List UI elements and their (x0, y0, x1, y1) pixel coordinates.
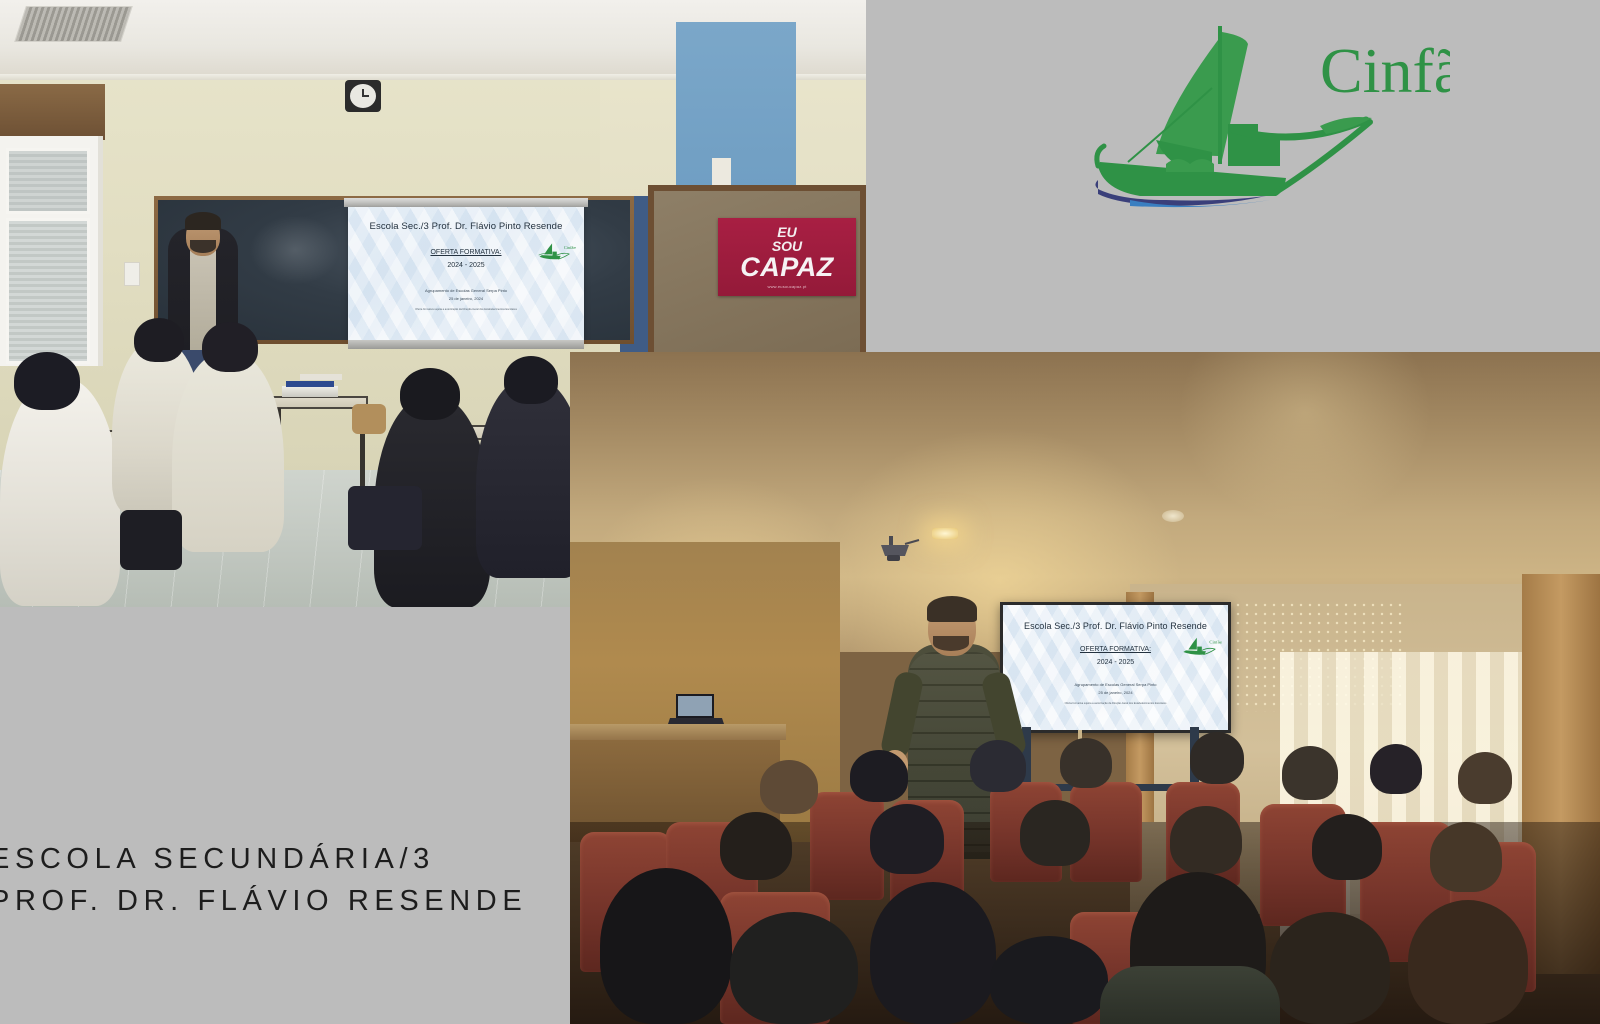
student-head (1458, 752, 1512, 804)
student-head (504, 356, 558, 404)
slide-subtitle: OFERTA FORMATIVA: (358, 249, 574, 256)
logo-wordmark: Cinfães (1320, 35, 1450, 106)
backpack (120, 510, 182, 570)
student-head (1270, 912, 1390, 1024)
student-head (760, 760, 818, 814)
chalkboard-smudge-2 (250, 215, 340, 285)
eu-sou-capaz-poster: EU SOU CAPAZ www.eusoucapaz.pt (718, 218, 856, 296)
student-head (1430, 822, 1502, 892)
presenter-hair (185, 212, 221, 230)
projector-screen-bottom-bar (348, 340, 584, 349)
ceiling-vent (14, 6, 133, 42)
student-head (730, 912, 858, 1024)
student-head (1370, 744, 1422, 794)
presentation-screen: Escola Sec./3 Prof. Dr. Flávio Pinto Res… (1000, 602, 1231, 733)
notebook-stack (282, 386, 338, 397)
ceiling-fixture (1162, 510, 1184, 522)
blue-book (286, 381, 334, 387)
student-head (1408, 900, 1528, 1024)
slide-title: Escola Sec./3 Prof. Dr. Flávio Pinto Res… (1015, 621, 1216, 631)
student-head (850, 750, 908, 802)
recessed-spotlight (932, 528, 958, 539)
window-pane-upper (6, 148, 90, 214)
student-head (134, 318, 184, 362)
projector-screen-rail (344, 198, 588, 207)
student-head (870, 882, 996, 1024)
ceiling-projector-icon (875, 534, 921, 564)
page-title: ESCOLA SECUNDÁRIA/3 PROF. DR. FLÁVIO RES… (0, 838, 630, 922)
projector-screen: Escola Sec./3 Prof. Dr. Flávio Pinto Res… (348, 207, 584, 340)
auditorium-presenter-hair (927, 596, 977, 622)
student-head (1190, 732, 1244, 784)
student-head (400, 368, 460, 420)
student (172, 352, 284, 552)
presenter-beard (190, 240, 216, 253)
student-head (1282, 746, 1338, 800)
poster-line-3: CAPAZ (740, 254, 834, 281)
student-head (1020, 800, 1090, 866)
chair-back (352, 404, 386, 434)
wall-clock (345, 80, 381, 112)
slide-years: 2024 - 2025 (358, 262, 574, 269)
student-head (202, 322, 258, 372)
student-head (990, 936, 1108, 1024)
slide-footer-2: 25 de janeiro, 2024 (358, 296, 574, 301)
backpack (348, 486, 422, 550)
student (0, 378, 120, 606)
slide-title: Escola Sec./3 Prof. Dr. Flávio Pinto Res… (358, 221, 574, 232)
slide-subtitle: OFERTA FORMATIVA: (1015, 646, 1216, 653)
student-head (14, 352, 80, 410)
student-head (720, 812, 792, 880)
cinfaes-logo: Cinfães (1070, 14, 1450, 214)
light-switch (124, 262, 140, 286)
page-title-line-2: PROF. DR. FLÁVIO RESENDE (0, 880, 630, 922)
slide-footer-3: Oferta formativa sujeita a autorização d… (358, 308, 574, 311)
window-pane-lower (6, 218, 90, 364)
wall-white-marker (712, 158, 731, 186)
presenter-beard (933, 636, 969, 651)
student-hood (1100, 966, 1280, 1024)
page-title-line-1: ESCOLA SECUNDÁRIA/3 (0, 838, 630, 880)
student-head (1060, 738, 1112, 788)
slide-footer-1: Agrupamento de Escolas General Serpa Pin… (1015, 682, 1216, 687)
slide-footer-3: Oferta formativa sujeita a autorização d… (1015, 702, 1216, 705)
auditorium-presentation-photo: Escola Sec./3 Prof. Dr. Flávio Pinto Res… (570, 352, 1600, 1024)
cinfaes-rabelo-boat-icon: Cinfães (1070, 14, 1450, 214)
poster-footer: www.eusoucapaz.pt (768, 284, 807, 289)
student-head (970, 740, 1026, 792)
white-book (300, 374, 342, 380)
student-head (1312, 814, 1382, 880)
slide-footer-1: Agrupamento de Escolas General Serpa Pin… (358, 288, 574, 293)
student-head (1170, 806, 1242, 874)
slide-footer-2: 25 de janeiro, 2024 (1015, 690, 1216, 695)
slide-years: 2024 - 2025 (1015, 659, 1216, 666)
page-canvas: EU SOU CAPAZ www.eusoucapaz.pt Escola Se… (0, 0, 1600, 1024)
poster-line-1: EU (777, 225, 796, 239)
blind-housing (0, 84, 105, 140)
laptop-icon (666, 692, 726, 728)
student-head (870, 804, 944, 874)
